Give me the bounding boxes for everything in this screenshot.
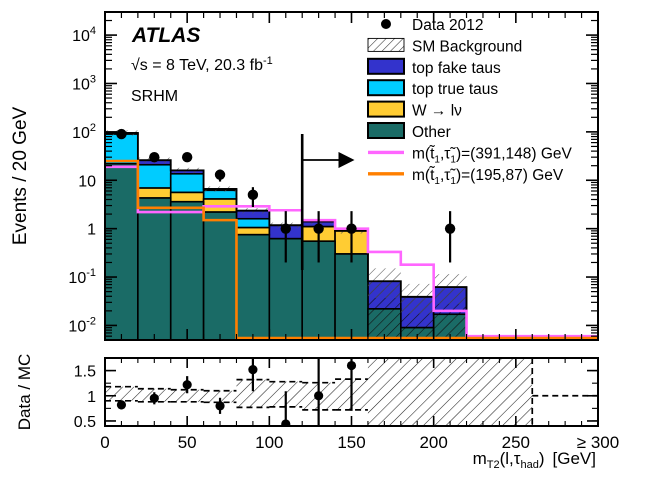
y-tick-label: 102 — [72, 122, 96, 142]
legend-sig-pre: m( — [412, 145, 431, 162]
x-title-args: (l,τ — [500, 449, 521, 468]
y-axis-title-main: Events / 20 GeV — [10, 106, 31, 245]
ratio-marker — [117, 400, 126, 409]
legend-label: Other — [412, 124, 451, 141]
legend-entry: SM Background — [368, 38, 522, 55]
legend-sig-pre: m( — [412, 167, 431, 184]
region-label: SRHM — [131, 88, 178, 105]
energy-lumi-label: √s = 8 TeV, 20.3 fb-1 — [131, 55, 273, 74]
legend-data-marker-icon — [381, 19, 391, 29]
data-marker — [116, 129, 126, 139]
y-tick-exponent: 2 — [90, 122, 96, 134]
y-tick-label: 103 — [72, 73, 96, 93]
stack-bin — [138, 188, 171, 198]
legend-label: top true taus — [412, 81, 498, 98]
lumi-exponent: -1 — [263, 55, 273, 67]
figure-root: Events / 20 GeV 10410310210110-110-2 ATL… — [0, 0, 664, 477]
ratio-marker — [215, 401, 224, 410]
stack-bin — [236, 235, 269, 340]
x-tick-label: 200 — [419, 433, 447, 452]
y-tick-label: 10-1 — [68, 267, 96, 287]
stack-bin — [171, 202, 204, 340]
x-tick-label: 100 — [255, 433, 283, 452]
sm-uncert-bin — [368, 268, 401, 298]
ratio-y-tick-label: 1 — [87, 389, 96, 406]
atlas-mt2-figure: Events / 20 GeV 10410310210110-110-2 ATL… — [0, 0, 664, 477]
x-title-close: ) — [539, 449, 545, 468]
stack-bin — [236, 228, 269, 235]
atlas-label: ATLAS — [131, 24, 200, 47]
data-marker — [281, 223, 291, 233]
y-tick-label: 104 — [72, 25, 96, 45]
y-tick-exponent: 4 — [90, 25, 96, 37]
data-marker — [346, 223, 356, 233]
x-tick-label: 150 — [337, 433, 365, 452]
legend-entry: m(t̃1,τ̃1)=(391,148) GeV — [368, 145, 573, 165]
y-axis-title-ratio: Data / MC — [15, 354, 34, 431]
legend-hatch-swatch-icon — [368, 38, 404, 51]
ratio-y-tick-label: 1.5 — [74, 364, 96, 381]
legend-label: SM Background — [412, 38, 522, 55]
y-tick-mantissa: 10 — [68, 318, 86, 335]
legend-entry: W → lν — [368, 102, 462, 120]
data-marker — [248, 190, 258, 200]
sm-uncert-bin — [434, 274, 467, 304]
legend-color-swatch-icon — [368, 59, 404, 74]
ratio-marker — [150, 394, 159, 403]
legend-entry: m(t̃1,τ̃1)=(195,87) GeV — [368, 167, 564, 187]
stack-bin — [171, 174, 204, 193]
data-marker — [149, 152, 159, 162]
y-tick-label: 10-2 — [68, 315, 96, 335]
x-title-sub: T2 — [487, 459, 500, 471]
legend-label: Data 2012 — [412, 17, 484, 34]
x-title-m: m — [473, 449, 487, 468]
ratio-marker — [183, 380, 192, 389]
data-marker — [313, 223, 323, 233]
ratio-uncert-band — [368, 358, 532, 426]
ratio-y-tick-label: 0.5 — [74, 414, 96, 431]
legend-label: top fake taus — [412, 60, 501, 77]
x-tick-label: 50 — [178, 433, 197, 452]
x-tick-label: 0 — [100, 433, 109, 452]
y-tick-label: 10 — [78, 173, 96, 190]
stack-bin — [171, 192, 204, 201]
x-title-args-sub: had — [521, 459, 539, 471]
legend-color-swatch-icon — [368, 123, 404, 138]
ratio-marker — [248, 365, 257, 374]
y-tick-mantissa: 1 — [87, 222, 96, 239]
data-marker — [445, 223, 455, 233]
energy-lumi-text: √s = 8 TeV, 20.3 fb — [131, 57, 263, 74]
legend-entry: Other — [368, 123, 451, 141]
sm-uncert-bin — [401, 284, 434, 314]
legend-entry: Data 2012 — [381, 17, 484, 34]
stack-bin — [138, 198, 171, 340]
legend-sig-post: )=(391,148) GeV — [456, 145, 573, 162]
legend-color-swatch-icon — [368, 80, 404, 95]
legend-label: m(t̃1,τ̃1)=(391,148) GeV — [412, 145, 573, 165]
legend-label: m(t̃1,τ̃1)=(195,87) GeV — [412, 167, 564, 187]
x-title-unit: [GeV] — [553, 449, 596, 468]
y-tick-exponent: 3 — [90, 73, 96, 85]
stack-bin — [335, 254, 368, 340]
stack-bin — [204, 212, 237, 340]
y-tick-exponent: -2 — [86, 315, 96, 327]
ratio-uncert-band — [105, 387, 138, 401]
y-tick-mantissa: 10 — [68, 270, 86, 287]
stack-bin — [138, 165, 171, 188]
stack-bin — [105, 164, 138, 340]
y-tick-exponent: -1 — [86, 267, 96, 279]
data-marker — [215, 170, 225, 180]
y-tick-label: 1 — [87, 222, 96, 239]
legend-entry: top fake taus — [368, 59, 501, 77]
x-axis-title: mT2(l,τhad)[GeV] — [473, 449, 596, 471]
legend-label: W → lν — [412, 103, 462, 120]
data-marker — [182, 152, 192, 162]
legend: Data 2012SM Backgroundtop fake taustop t… — [368, 17, 573, 187]
y-tick-mantissa: 10 — [78, 173, 96, 190]
legend-entry: top true taus — [368, 80, 498, 98]
legend-sig-post: )=(195,87) GeV — [456, 167, 564, 184]
stack-bin — [236, 219, 269, 228]
y-tick-mantissa: 10 — [72, 125, 90, 142]
y-tick-mantissa: 10 — [72, 28, 90, 45]
y-tick-mantissa: 10 — [72, 76, 90, 93]
ratio-marker — [314, 391, 323, 400]
legend-color-swatch-icon — [368, 102, 404, 117]
